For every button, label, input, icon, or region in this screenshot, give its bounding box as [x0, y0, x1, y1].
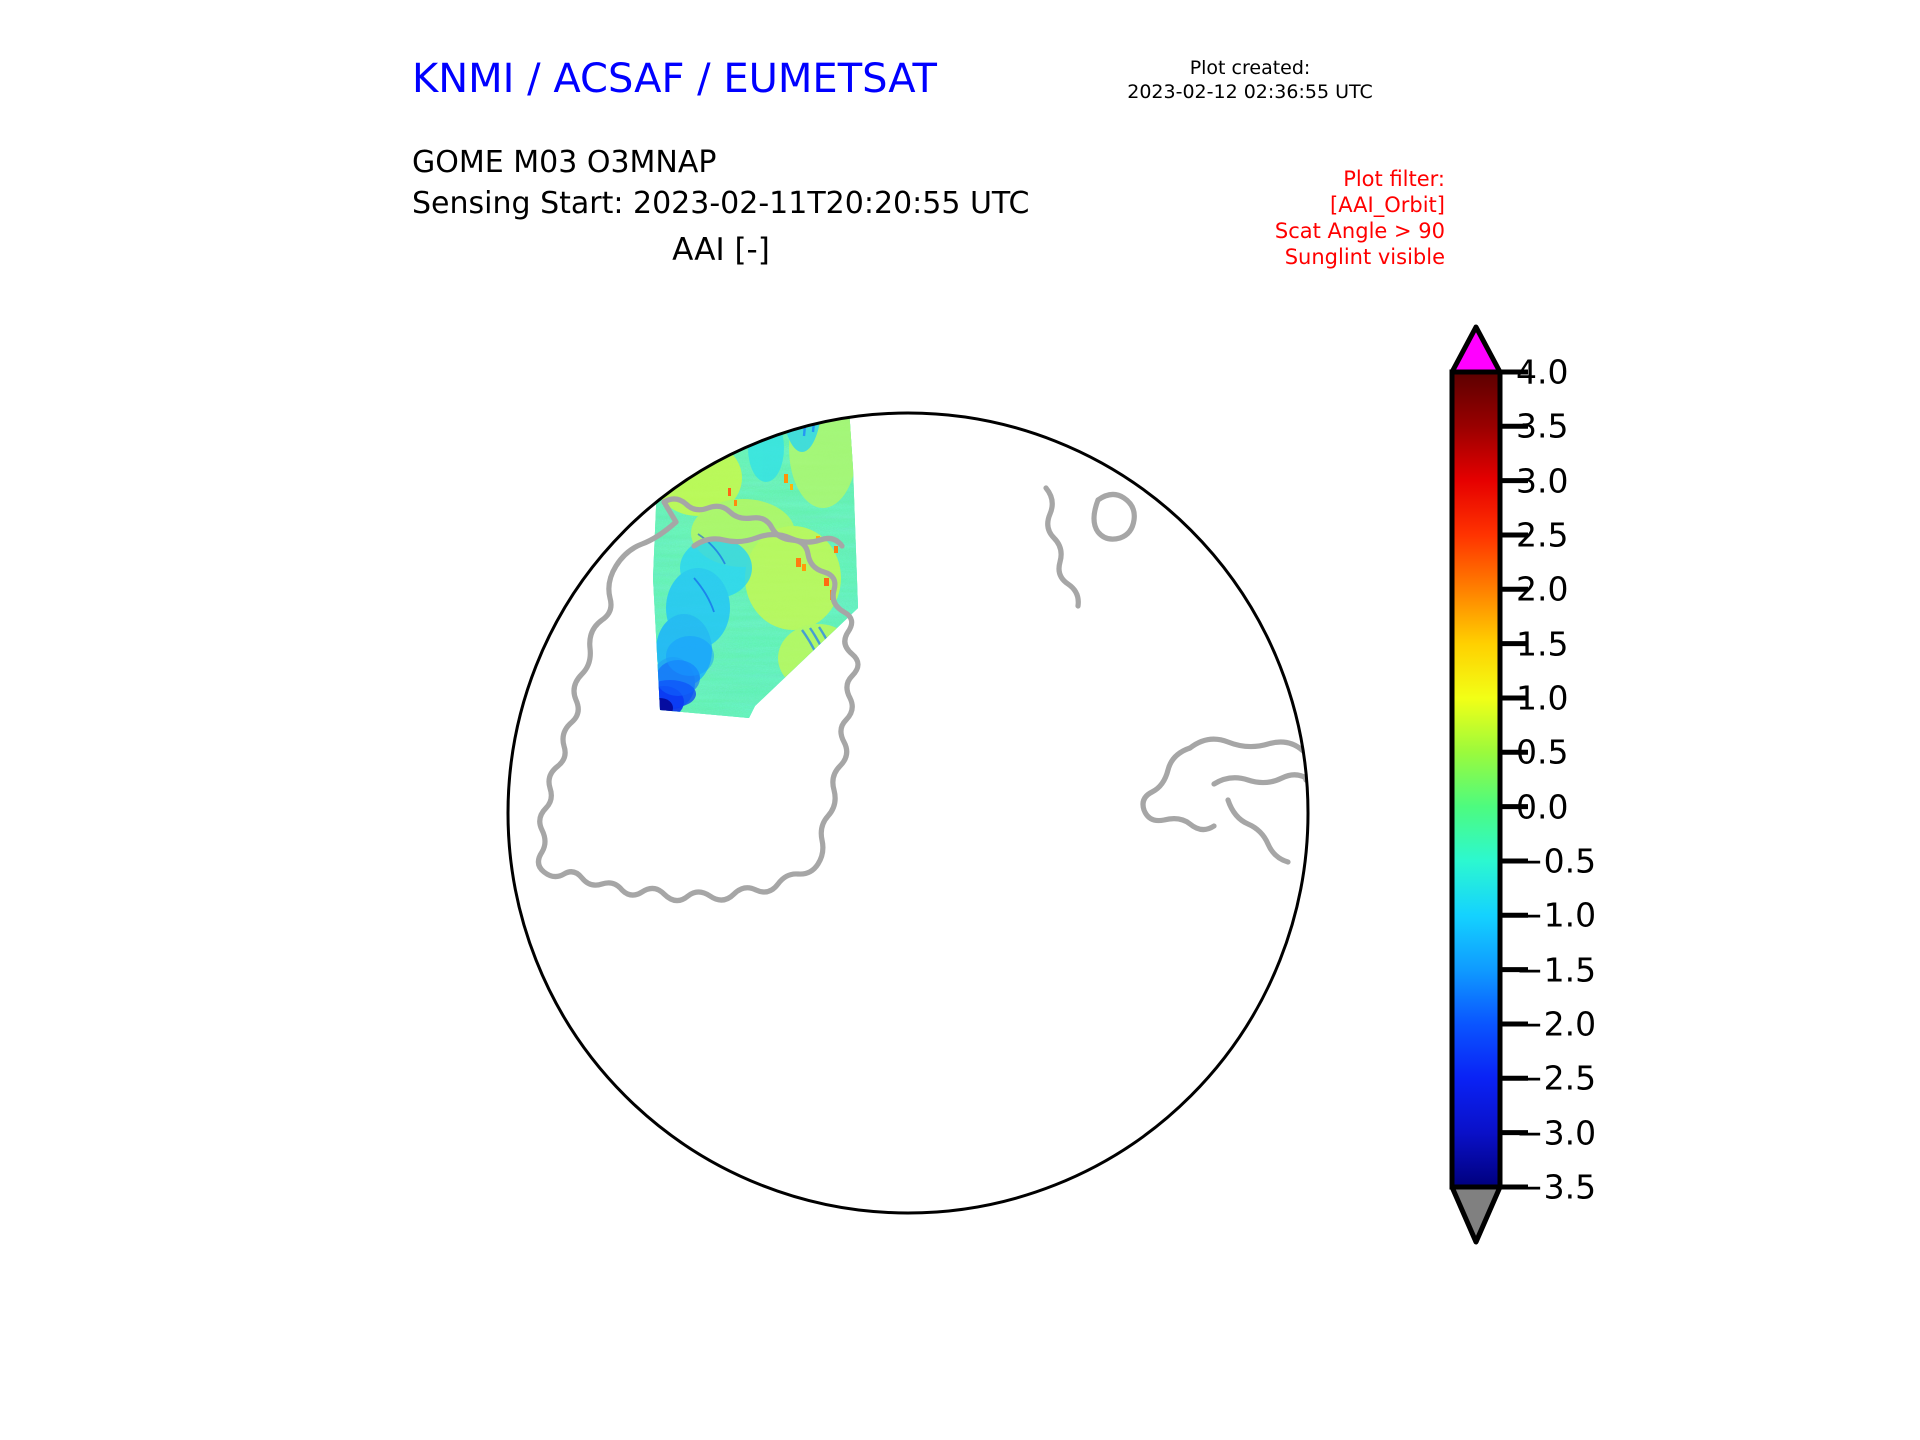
colorbar-tick-label-13: −2.5 — [1516, 1059, 1596, 1098]
colorbar-tick-label-0: 4.0 — [1516, 353, 1568, 392]
colorbar-tick-label-2: 3.0 — [1516, 461, 1568, 500]
colorbar-tick-label-1: 3.5 — [1516, 407, 1568, 446]
plot-created-label: Plot created: — [1060, 56, 1440, 80]
colorbar-tick-label-11: −1.5 — [1516, 950, 1596, 989]
colorbar-tick-label-4: 2.0 — [1516, 570, 1568, 609]
plot-filter-label: Plot filter: — [1160, 166, 1445, 192]
colorbar-tick-label-15: −3.5 — [1516, 1168, 1596, 1207]
plot-filter-variable: [AAI_Orbit] — [1160, 192, 1445, 218]
organisation-title: KNMI / ACSAF / EUMETSAT — [412, 56, 937, 102]
colorbar-tick-label-6: 1.0 — [1516, 679, 1568, 718]
colorbar-tick-label-9: −0.5 — [1516, 842, 1596, 881]
colorbar-tick-label-3: 2.5 — [1516, 516, 1568, 555]
plot-filter-scat-angle: Scat Angle > 90 — [1160, 218, 1445, 244]
south-polar-map — [398, 278, 1418, 1338]
plot-created-block: Plot created: 2023-02-12 02:36:55 UTC — [1060, 56, 1440, 104]
colorbar-tick-label-5: 1.5 — [1516, 624, 1568, 663]
colorbar-tick-label-14: −3.0 — [1516, 1113, 1596, 1152]
colorbar-tick-label-7: 0.5 — [1516, 733, 1568, 772]
plot-created-timestamp: 2023-02-12 02:36:55 UTC — [1060, 80, 1440, 104]
colorbar-gradient — [1452, 372, 1500, 1187]
map-panel — [398, 278, 1418, 1338]
plot-filter-sunglint: Sunglint visible — [1160, 244, 1445, 270]
colorbar-tick-label-8: 0.0 — [1516, 787, 1568, 826]
sensing-start: Sensing Start: 2023-02-11T20:20:55 UTC — [412, 183, 1029, 224]
colorbar-tick-labels: 4.0 3.5 3.0 2.5 2.0 1.5 1.0 0.5 0.0 −0.5… — [1516, 282, 1706, 1292]
colorbar-under-arrow — [1452, 1187, 1500, 1242]
colorbar-over-arrow — [1452, 327, 1500, 372]
plot-filter-block: Plot filter: [AAI_Orbit] Scat Angle > 90… — [1160, 166, 1445, 270]
colorbar-tick-label-10: −1.0 — [1516, 896, 1596, 935]
product-name: GOME M03 O3MNAP — [412, 142, 1029, 183]
colorbar-tick-label-12: −2.0 — [1516, 1005, 1596, 1044]
map-background — [398, 278, 1418, 1338]
figure-canvas: KNMI / ACSAF / EUMETSAT Plot created: 20… — [0, 0, 1920, 1440]
product-info-block: GOME M03 O3MNAP Sensing Start: 2023-02-1… — [412, 142, 1029, 224]
